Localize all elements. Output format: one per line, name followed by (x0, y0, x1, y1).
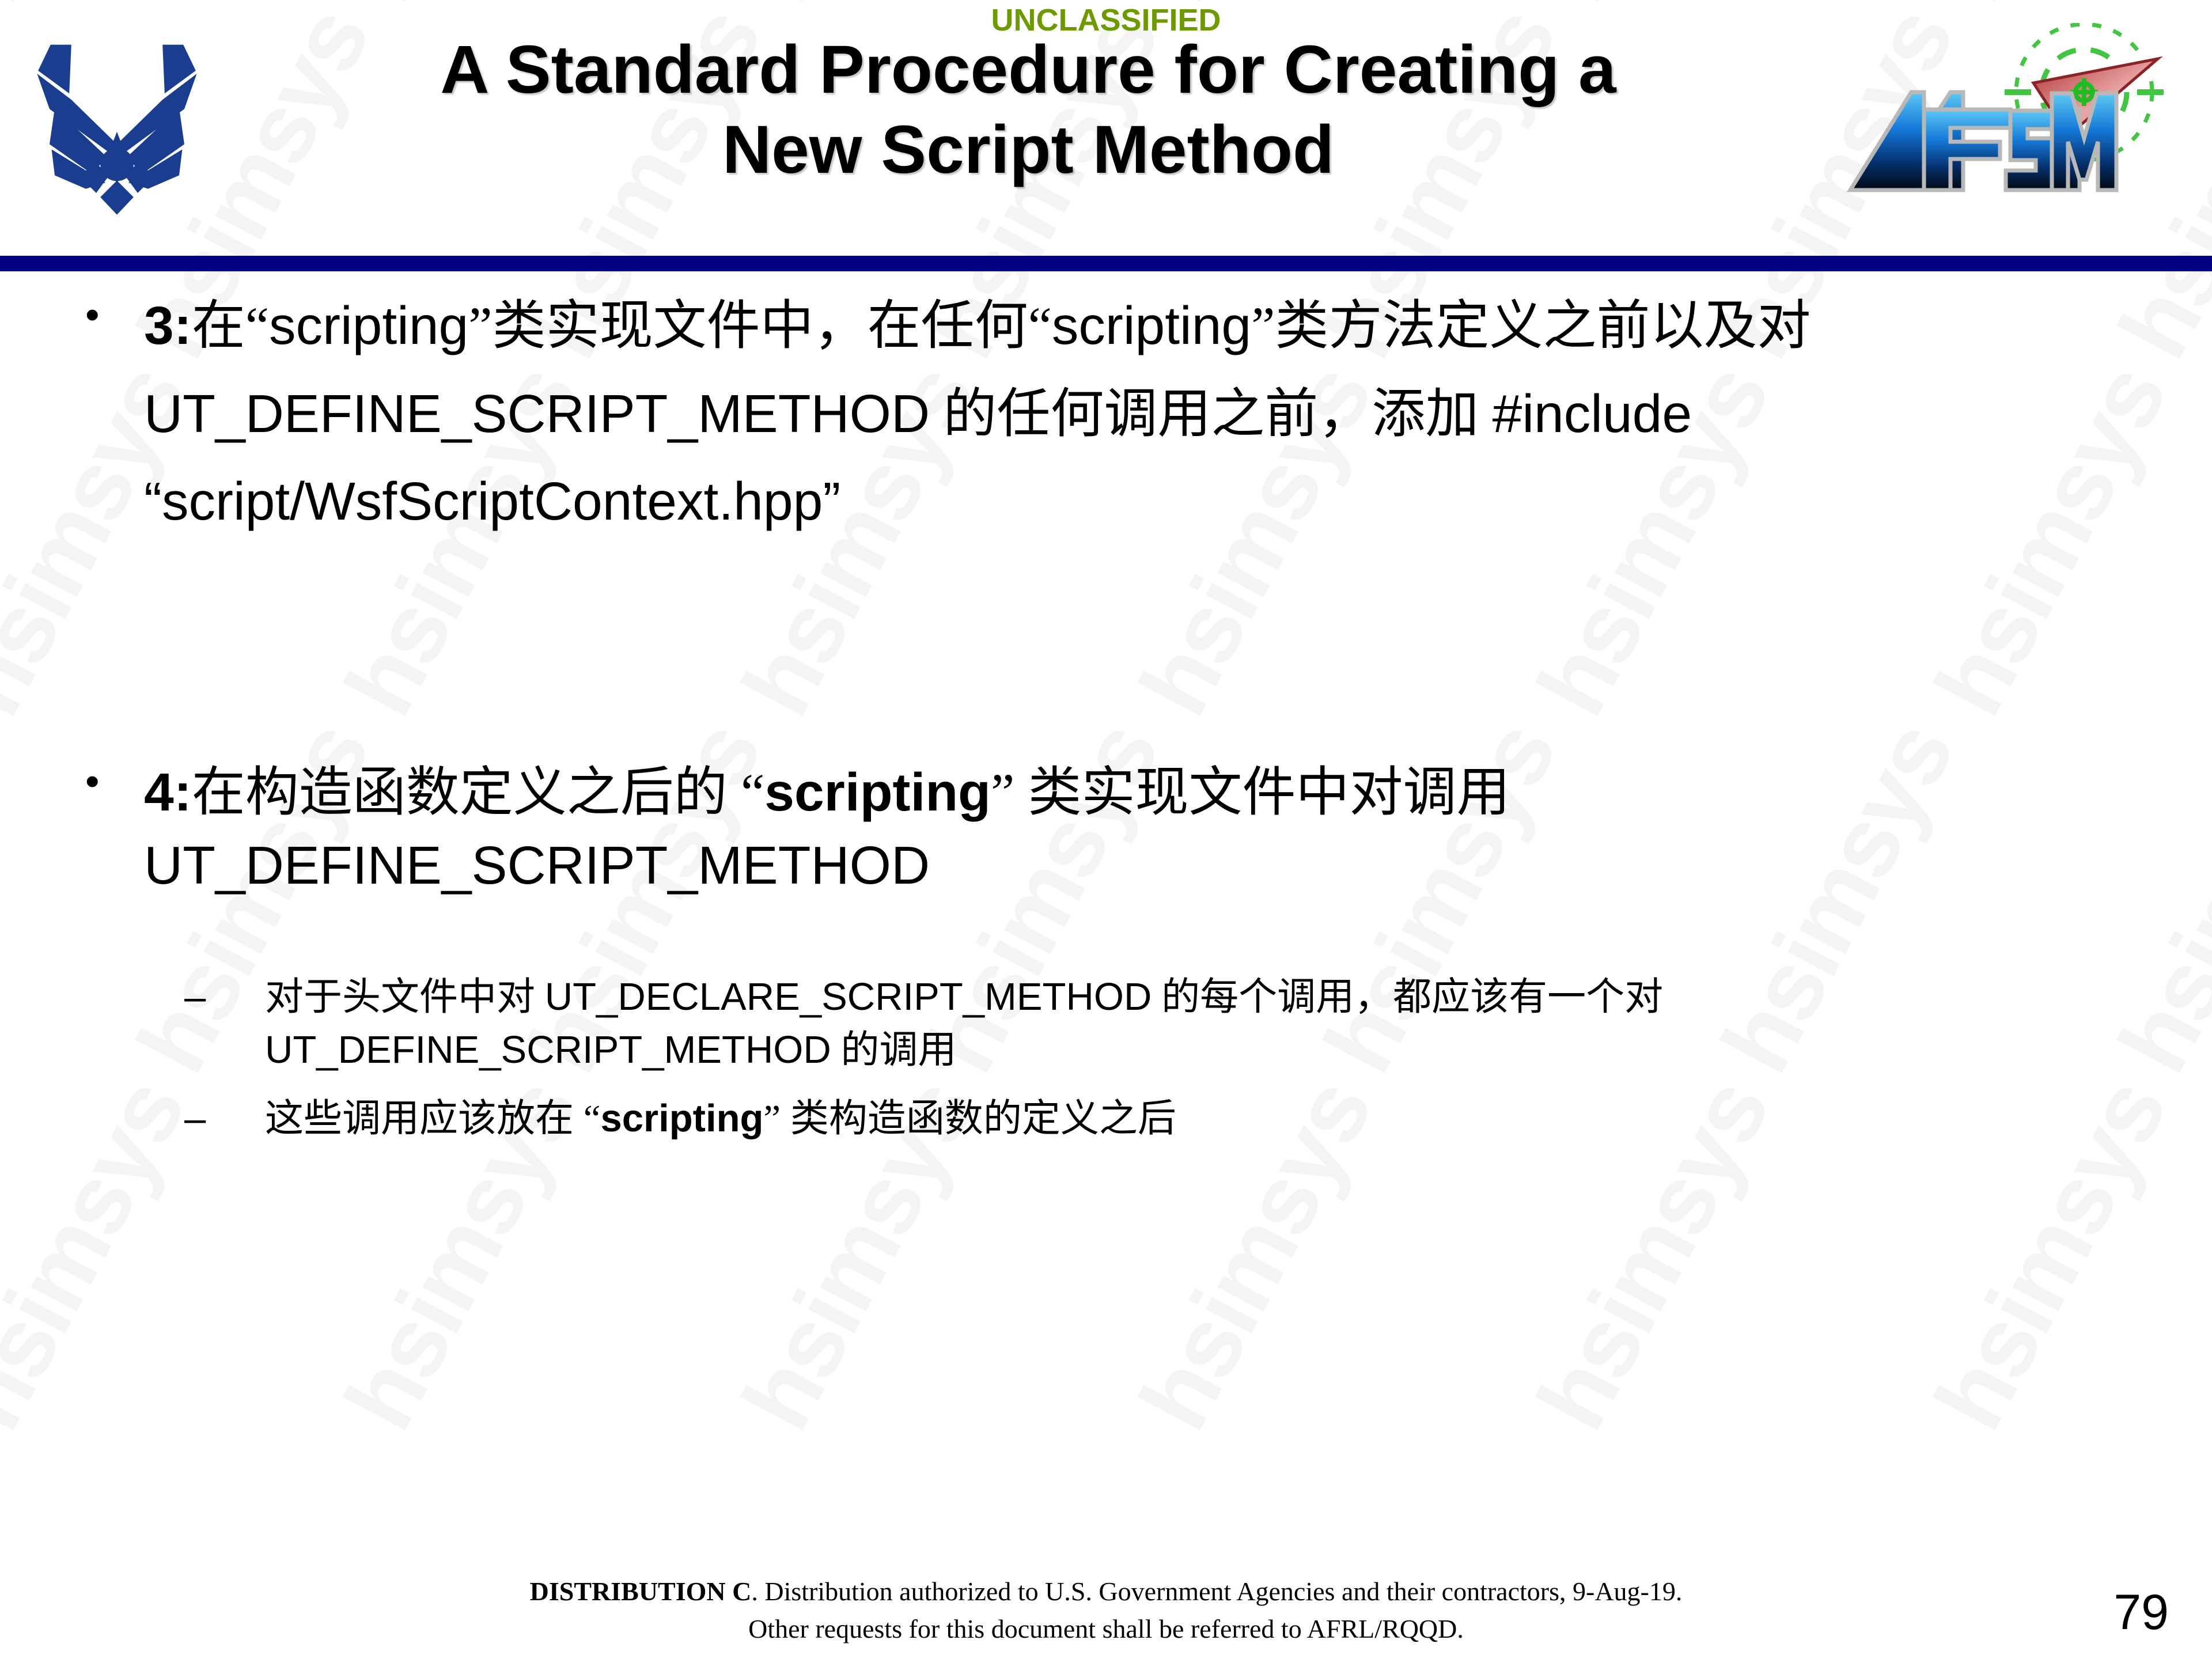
bullet-3-text-1: 在“ (192, 297, 269, 356)
sub-bullet-list: –对于头文件中对 UT_DECLARE_SCRIPT_METHOD 的每个调用，… (0, 971, 2085, 1160)
bullet-3-code-3: UT_DEFINE_SCRIPT_METHOD (144, 384, 930, 444)
slide-body: •3:在“scripting”类实现文件中，在任何“scripting”类方法定… (0, 282, 2212, 546)
bullet-3-code-2: scripting (1052, 296, 1251, 355)
bullet-3-code-1: scripting (269, 296, 468, 355)
sub-bullet-item: –这些调用应该放在 “scripting” 类构造函数的定义之后 (0, 1092, 2085, 1145)
page-title-line-1: A Standard Procedure for Creating a (242, 30, 1815, 110)
sub-bullet-item: –对于头文件中对 UT_DECLARE_SCRIPT_METHOD 的每个调用，… (0, 971, 2085, 1077)
page-number: 79 (2113, 1584, 2169, 1641)
sub-bullet-1-text-3: 的调用 (831, 1029, 957, 1071)
bullet-4-text-2: ” 类实现文件中对调用 (991, 763, 1510, 823)
sub-bullet-1-code-2: UT_DEFINE_SCRIPT_METHOD (265, 1028, 831, 1071)
sub-bullet-2-text-2: ” 类构造函数的定义之后 (763, 1097, 1176, 1140)
bullet-item-step-4: •4:在构造函数定义之后的 “scripting” 类实现文件中对调用 (0, 749, 2212, 837)
bullet-3-text-3: ”类方法定义之前以及对 (1251, 297, 1810, 356)
bullet-3-text-4: 的任何调用之前，添加 (930, 385, 1493, 444)
distribution-label: DISTRIBUTION C (530, 1577, 752, 1606)
sub-bullet-1-code-1: UT_DECLARE_SCRIPT_METHOD (545, 975, 1152, 1018)
page-title: A Standard Procedure for Creating a New … (242, 30, 1815, 190)
bullet-4-code-1: scripting (764, 762, 991, 822)
air-force-logo-icon (10, 22, 224, 229)
bullet-item-step-3: •3:在“scripting”类实现文件中，在任何“scripting”类方法定… (0, 282, 2212, 546)
step-number: 3: (144, 296, 192, 355)
bullet-4-code-block: UT_DEFINE_SCRIPT_METHOD (0, 834, 2085, 898)
step-number: 4: (144, 762, 192, 822)
bullet-3-text-2: ”类实现文件中，在任何“ (468, 297, 1052, 356)
slide-content: UNCLASSIFIED (0, 0, 2212, 1659)
sub-bullet-1-text-1: 对于头文件中对 (265, 976, 545, 1018)
afsim-logo-icon (1838, 23, 2195, 207)
bullet-4-text-1: 在构造函数定义之后的 “ (192, 763, 765, 823)
slide-header: UNCLASSIFIED (0, 0, 2212, 262)
sub-bullet-2-text-1: 这些调用应该放在 “ (265, 1097, 601, 1140)
bullet-item-step-4-block: •4:在构造函数定义之后的 “scripting” 类实现文件中对调用 UT_D… (0, 749, 2085, 897)
bullet-marker: • (85, 282, 100, 347)
header-divider-rule (0, 256, 2212, 271)
distribution-line-2: Other requests for this document shall b… (127, 1610, 2085, 1647)
page-title-line-2: New Script Method (242, 110, 1815, 190)
distribution-line-1: DISTRIBUTION C. Distribution authorized … (127, 1573, 2085, 1610)
sub-bullet-marker: – (184, 971, 206, 1024)
distribution-text-1: . Distribution authorized to U.S. Govern… (751, 1577, 1682, 1606)
sub-bullet-marker: – (184, 1092, 206, 1145)
sub-bullet-2-code-1: scripting (601, 1097, 764, 1140)
slide-footer: DISTRIBUTION C. Distribution authorized … (0, 1573, 2212, 1648)
sub-bullet-1-text-2: 的每个调用，都应该有一个对 (1152, 976, 1663, 1018)
bullet-marker: • (85, 749, 100, 814)
distribution-statement: DISTRIBUTION C. Distribution authorized … (127, 1573, 2085, 1648)
